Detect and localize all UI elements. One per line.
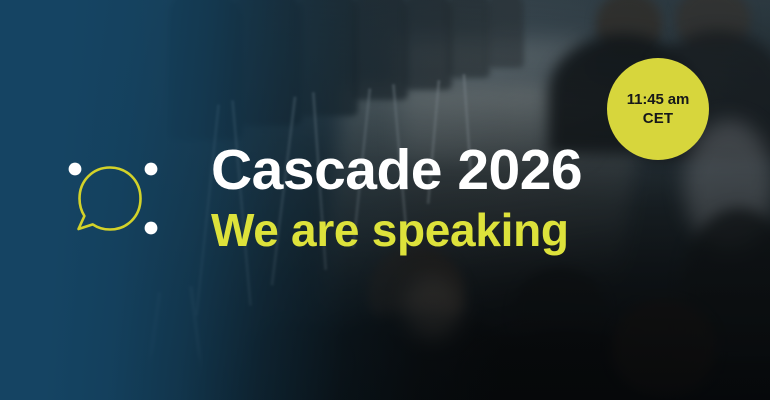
speech-bubble-logo [62,152,166,256]
event-title: Cascade 2026 [211,139,671,201]
badge-timezone-label: CET [643,109,674,128]
logo-dot-top-left [69,163,82,176]
badge-time-label: 11:45 am [627,90,690,109]
event-promo-banner: Cascade 2026 We are speaking 11:45 am CE… [0,0,770,400]
time-badge: 11:45 am CET [607,58,709,160]
headline-block: Cascade 2026 We are speaking [211,139,671,259]
event-subtitle: We are speaking [211,201,671,259]
logo-dot-bottom-right [145,222,158,235]
logo-dot-top-right [145,163,158,176]
